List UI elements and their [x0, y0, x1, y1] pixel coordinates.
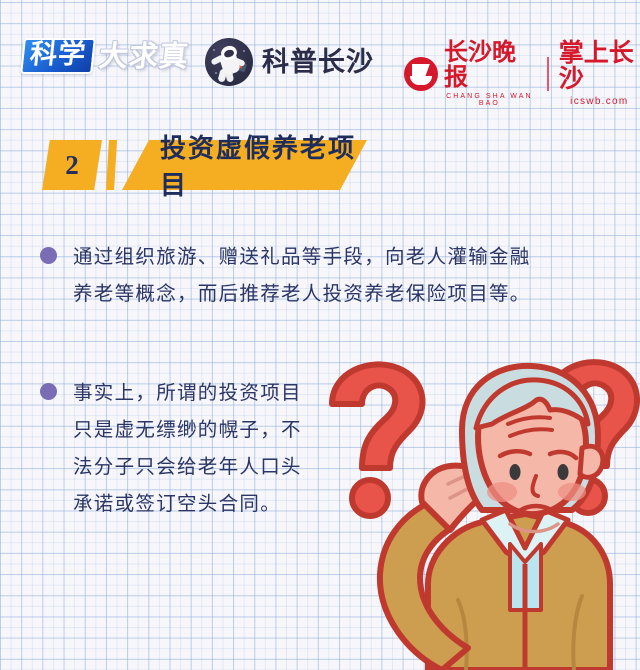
astronaut-icon — [205, 38, 253, 86]
changsha-wanbao-wordmark: 长沙晚报 CHANG SHA WAN BAO — [444, 40, 535, 107]
bullet-text: 事实上，所谓的投资项目只是虚无缥缈的幌子，不法分子只会给老年人口头承诺或签订空头… — [73, 374, 311, 522]
list-item: 事实上，所谓的投资项目只是虚无缥缈的幌子，不法分子只会给老年人口头承诺或签订空头… — [40, 374, 315, 522]
changsha-wanbao-logo: 长沙晚报 CHANG SHA WAN BAO 掌上长沙 icswb.com — [404, 40, 640, 107]
science-logo-tail-text: 大求真 — [97, 42, 190, 71]
section-number: 2 — [42, 140, 102, 190]
list-item: 通过组织旅游、赠送礼品等手段，向老人灌输金融养老等概念，而后推荐老人投资养老保险… — [40, 238, 540, 312]
kepu-changsha-logo: 科普长沙 — [205, 38, 374, 86]
section-title-banner: 2 投资虚假养老项目 — [42, 140, 367, 190]
bullet-dot-icon — [40, 383, 57, 400]
question-mark-left-icon — [332, 364, 423, 516]
app-website-url: icswb.com — [559, 96, 640, 107]
changsha-app-wordmark: 掌上长沙 icswb.com — [559, 40, 640, 107]
banner-slash-shape — [106, 140, 117, 190]
science-logo-boxed-text: 科学 — [20, 38, 96, 74]
changsha-wanbao-mark-icon — [404, 57, 438, 91]
science-program-logo: 科学 大求真 — [22, 38, 189, 74]
header-logo-bar: 科学 大求真 科普长沙 — [0, 30, 640, 92]
app-chinese-name: 掌上长沙 — [559, 38, 634, 93]
kepu-changsha-label: 科普长沙 — [262, 49, 374, 76]
confused-elderly-man-illustration — [310, 352, 640, 670]
newspaper-chinese-name: 长沙晚报 — [444, 38, 516, 91]
bullet-text: 通过组织旅游、赠送礼品等手段，向老人灌输金融养老等概念，而后推荐老人投资养老保险… — [73, 238, 539, 312]
poster-page: 科学 大求真 科普长沙 — [0, 0, 640, 670]
logo-divider — [547, 57, 549, 91]
bullet-dot-icon — [40, 247, 57, 264]
page-title: 投资虚假养老项目 — [122, 140, 367, 190]
newspaper-pinyin: CHANG SHA WAN BAO — [444, 93, 535, 107]
